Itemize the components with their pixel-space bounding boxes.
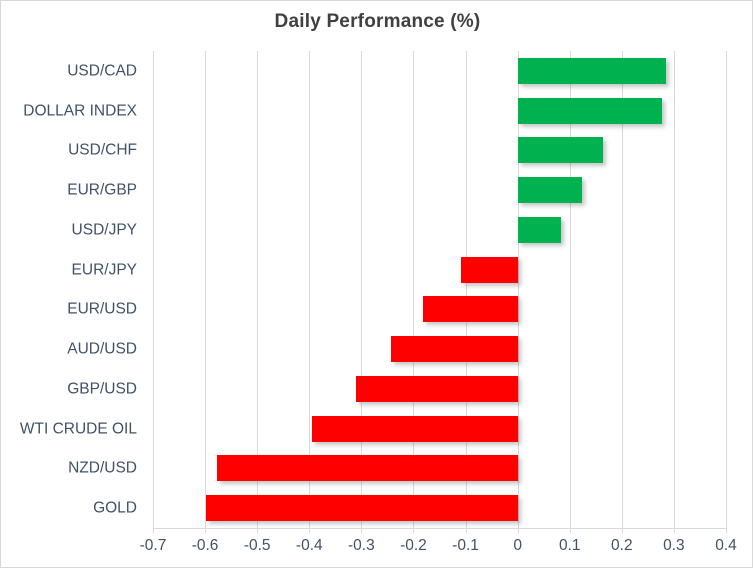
x-axis-tick-mark [466,528,467,533]
x-axis-tick-labels: -0.7-0.6-0.5-0.4-0.3-0.2-0.100.10.20.30.… [1,537,753,561]
y-axis-label-nzd-usd: NZD/USD [68,461,137,477]
x-axis-tick-mark [518,528,519,533]
x-axis-tick-mark [570,528,571,533]
x-axis-tick-label: -0.2 [400,537,427,555]
x-axis-tick-mark [726,528,727,533]
x-axis-tick-mark [361,528,362,533]
x-axis-tick-mark [153,528,154,533]
bar-row [153,409,726,449]
bar-row [153,369,726,409]
y-axis-label-gold: GOLD [93,500,137,516]
bar-row [153,131,726,171]
y-axis-label-wti-crude-oil: WTI CRUDE OIL [20,421,137,437]
x-axis-tick-label: -0.1 [452,537,479,555]
bar-wti-crude-oil[interactable] [312,416,518,442]
bar-gbp-usd[interactable] [356,376,518,402]
y-axis-label-dollar-index: DOLLAR INDEX [23,103,137,119]
y-axis-label-usd-chf: USD/CHF [68,143,137,159]
bar-row [153,51,726,91]
x-axis-tick-mark [205,528,206,533]
x-axis-tick-label: 0.2 [611,537,633,555]
plot-area [153,51,726,528]
x-axis-tick-mark [413,528,414,533]
x-axis-tick-label: 0 [513,537,522,555]
bar-usd-cad[interactable] [518,58,666,84]
x-axis-tick-mark [622,528,623,533]
x-axis-tick-mark [257,528,258,533]
x-axis-tick-label: 0.1 [559,537,581,555]
x-axis-tick-mark [309,528,310,533]
bar-dollar-index[interactable] [518,98,663,124]
bar-eur-jpy[interactable] [461,257,517,283]
x-axis-tick-mark [674,528,675,533]
bar-row [153,91,726,131]
bar-row [153,488,726,528]
x-axis-tick-label: 0.4 [715,537,737,555]
bar-row [153,449,726,489]
bar-usd-chf[interactable] [518,137,603,163]
x-axis-tick-label: -0.5 [244,537,271,555]
x-axis-tick-label: -0.7 [140,537,167,555]
bar-usd-jpy[interactable] [518,217,561,243]
y-axis-label-usd-jpy: USD/JPY [72,222,137,238]
y-axis-label-aud-usd: AUD/USD [67,341,137,357]
bar-row [153,170,726,210]
chart-container: Daily Performance (%) USD/CADDOLLAR INDE… [0,0,753,568]
x-axis-tick-label: -0.6 [192,537,219,555]
y-axis-label-eur-jpy: EUR/JPY [72,262,137,278]
bar-aud-usd[interactable] [391,336,518,362]
y-axis-category-labels: USD/CADDOLLAR INDEXUSD/CHFEUR/GBPUSD/JPY… [1,51,145,528]
y-axis-label-eur-gbp: EUR/GBP [67,182,137,198]
x-axis-tick-label: -0.3 [348,537,375,555]
bar-row [153,210,726,250]
chart-title: Daily Performance (%) [1,11,753,33]
bar-eur-gbp[interactable] [518,177,583,203]
y-axis-label-gbp-usd: GBP/USD [67,381,137,397]
x-gridline [726,51,727,528]
y-axis-label-eur-usd: EUR/USD [67,302,137,318]
bar-row [153,290,726,330]
bar-eur-usd[interactable] [423,296,518,322]
x-axis-line [153,528,727,529]
bar-row [153,250,726,290]
bar-gold[interactable] [206,495,518,521]
bar-row [153,329,726,369]
x-axis-tick-label: 0.3 [663,537,685,555]
bar-nzd-usd[interactable] [217,455,518,481]
x-axis-tick-label: -0.4 [296,537,323,555]
y-axis-label-usd-cad: USD/CAD [67,63,137,79]
